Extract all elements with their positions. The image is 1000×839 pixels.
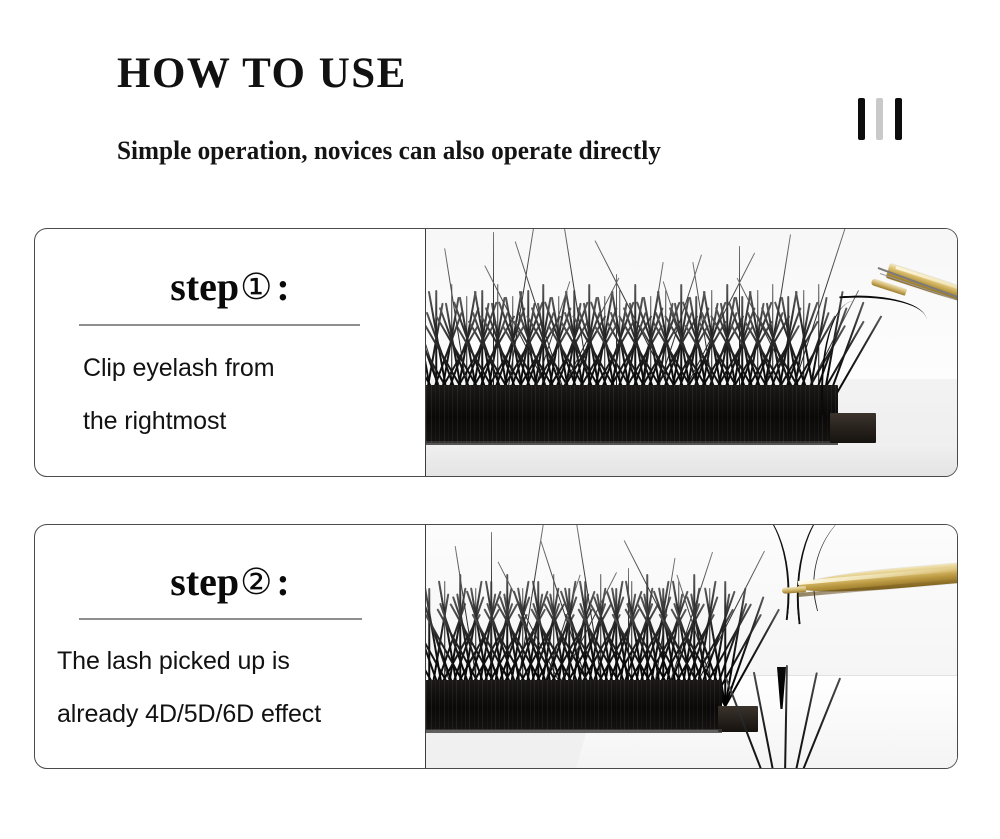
lash-base-striation (538, 680, 539, 730)
lash-base-striation (731, 385, 732, 443)
lash-base-striation (705, 385, 706, 443)
lash-base-striation (657, 385, 658, 443)
step-2-body-line-2: already 4D/5D/6D effect (57, 688, 421, 741)
lash-base-striation (659, 680, 660, 730)
lash-base-striation (542, 680, 543, 730)
lash-base-striation (470, 385, 471, 443)
lash-base-striation (783, 385, 784, 443)
lash-base-striation (469, 680, 470, 730)
lash-base-striation (757, 385, 758, 443)
lash-base-striation (466, 385, 467, 443)
lash-base-striation (517, 680, 518, 730)
lash-base-striation (570, 385, 571, 443)
lash-base-striation (613, 385, 614, 443)
lash-base-striation (505, 385, 506, 443)
lash-base-striation (577, 680, 578, 730)
lash-base-striation (573, 680, 574, 730)
lash-base-striation (487, 680, 488, 730)
step-2-number-icon: ② (239, 562, 273, 603)
lash-base-striation (727, 385, 728, 443)
lash-base-striation (666, 385, 667, 443)
lash-base-striation (566, 385, 567, 443)
lash-base-striation (500, 385, 501, 443)
lash-base-striation (439, 385, 440, 443)
lash-base-striation (560, 680, 561, 730)
lash-base-striation (800, 385, 801, 443)
lash-base-striation (628, 680, 629, 730)
lash-base-striation (474, 680, 475, 730)
lash-base-shadow (426, 729, 722, 733)
lash-base-striation (530, 680, 531, 730)
lash-base-striation (561, 385, 562, 443)
lash-base-striation (718, 385, 719, 443)
lash-base-striation (551, 680, 552, 730)
lash-base-striation (574, 385, 575, 443)
lash-base-striation (512, 680, 513, 730)
lash-base-striation (710, 680, 711, 730)
lash-base-striation (444, 680, 445, 730)
lash-base-striation (744, 385, 745, 443)
lash-base-striation (583, 385, 584, 443)
lash-base-striation (452, 385, 453, 443)
lash-base-striation (706, 680, 707, 730)
lash-base-striation (696, 385, 697, 443)
lash-base-striation (631, 385, 632, 443)
lash-base-striation (779, 385, 780, 443)
lash-base-striation (478, 680, 479, 730)
step-1-divider (79, 324, 360, 326)
lash-base-striation (495, 680, 496, 730)
lash-base-striation (761, 385, 762, 443)
lash-base-striation (444, 385, 445, 443)
lash-base-striation (496, 385, 497, 443)
lash-base-striation (482, 680, 483, 730)
step-1-body-line-1: Clip eyelash from (83, 342, 421, 395)
lash-base-striation (535, 385, 536, 443)
lash-base-striation (650, 680, 651, 730)
lash-base-striation (457, 385, 458, 443)
lash-base-striation (539, 385, 540, 443)
lash-base-striation (452, 680, 453, 730)
lash-base-striation (431, 680, 432, 730)
lash-base-striation (714, 680, 715, 730)
lash-base-striation (700, 385, 701, 443)
lash-base-striation (740, 385, 741, 443)
lash-base-striation (653, 385, 654, 443)
lash-base-striation (680, 680, 681, 730)
lash-base-striation (581, 680, 582, 730)
triple-bar-mark-icon (858, 98, 906, 140)
lash-base-striation (609, 385, 610, 443)
lash-base-striation (492, 385, 493, 443)
lash-base-striation (667, 680, 668, 730)
lash-base-striation (585, 680, 586, 730)
lash-base-striation (548, 385, 549, 443)
page-title: HOW TO USE (117, 52, 407, 95)
step-2-body-line-1: The lash picked up is (57, 635, 421, 688)
lash-base-striation (594, 680, 595, 730)
lash-base-tab (830, 413, 876, 443)
lash-base-striation (590, 680, 591, 730)
step-2-divider (79, 618, 362, 620)
lash-base-striation (483, 385, 484, 443)
step-2-text-pane: step②: The lash picked up is already 4D/… (35, 525, 425, 768)
step-card-1: step①: Clip eyelash from the rightmost (34, 228, 958, 477)
step-card-2: step②: The lash picked up is already 4D/… (34, 524, 958, 769)
lash-base-striation (547, 680, 548, 730)
lash-base-striation (607, 680, 608, 730)
lash-base-striation (693, 680, 694, 730)
lash-base-striation (564, 680, 565, 730)
lash-base-striation (814, 385, 815, 443)
lash-base-striation (735, 385, 736, 443)
tweezer-holding-fan-photo (426, 525, 957, 768)
lash-base-strip (426, 680, 722, 730)
lash-base-striation (640, 385, 641, 443)
lash-base-striation (522, 385, 523, 443)
lash-base-striation (809, 385, 810, 443)
lash-base-striation (697, 680, 698, 730)
lash-base-striation (461, 385, 462, 443)
lash-base-striation (702, 680, 703, 730)
lash-base-striation (766, 385, 767, 443)
lash-base-striation (616, 680, 617, 730)
lash-base-striation (671, 680, 672, 730)
lash-base-striation (487, 385, 488, 443)
lash-base-striation (491, 680, 492, 730)
lash-base-striation (646, 680, 647, 730)
step-1-photo (425, 229, 957, 476)
lash-base-striation (641, 680, 642, 730)
lash-base-striation (684, 680, 685, 730)
lash-base-striation (787, 385, 788, 443)
lash-base-striation (508, 680, 509, 730)
lash-base-striation (426, 680, 427, 730)
step-1-body: Clip eyelash from the rightmost (35, 342, 425, 448)
photo-table-surface (426, 444, 957, 476)
step-2-photo (425, 525, 957, 768)
lash-base-striation (748, 385, 749, 443)
lash-base-striation (504, 680, 505, 730)
lash-base-striation (526, 385, 527, 443)
lash-base-striation (431, 385, 432, 443)
lash-base-striation (644, 385, 645, 443)
lash-base-striation (534, 680, 535, 730)
lash-base-striation (635, 385, 636, 443)
step-1-heading: step①: (35, 267, 425, 307)
lash-base-striation (461, 680, 462, 730)
deco-bar-3 (895, 98, 902, 140)
lash-base-striation (687, 385, 688, 443)
lash-base-striation (605, 385, 606, 443)
lash-base-striation (611, 680, 612, 730)
lash-base-striation (618, 385, 619, 443)
lash-base-striation (648, 385, 649, 443)
lash-base-striation (426, 385, 427, 443)
lash-base-striation (587, 385, 588, 443)
step-2-body: The lash picked up is already 4D/5D/6D e… (35, 635, 425, 741)
lash-base-striation (689, 680, 690, 730)
lash-base-striation (654, 680, 655, 730)
step-1-heading-colon: : (273, 264, 289, 309)
lash-tray-with-tweezer-photo (426, 229, 957, 476)
lash-base-striation (620, 680, 621, 730)
lash-base-striation (513, 385, 514, 443)
step-1-number-icon: ① (239, 267, 273, 308)
lash-base-striation (624, 680, 625, 730)
step-2-heading-colon: : (273, 559, 289, 604)
lash-base-striation (663, 680, 664, 730)
page-header: HOW TO USE Simple operation, novices can… (0, 0, 1000, 200)
lash-base-striation (525, 680, 526, 730)
step-1-heading-prefix: step (170, 264, 239, 309)
lash-base-striation (509, 385, 510, 443)
lash-base-striation (676, 680, 677, 730)
lash-base-striation (568, 680, 569, 730)
deco-bar-1 (858, 98, 865, 140)
lash-base-striation (774, 385, 775, 443)
lash-base-striation (770, 385, 771, 443)
step-1-text-pane: step①: Clip eyelash from the rightmost (35, 229, 425, 476)
lash-base-striation (633, 680, 634, 730)
lash-base-striation (637, 680, 638, 730)
lash-base-striation (603, 680, 604, 730)
lash-base-striation (692, 385, 693, 443)
lash-base-striation (598, 680, 599, 730)
lash-base-striation (435, 385, 436, 443)
lash-base-striation (600, 385, 601, 443)
lash-base-striation (596, 385, 597, 443)
lash-base-striation (805, 385, 806, 443)
lash-base-striation (674, 385, 675, 443)
lash-base-striation (456, 680, 457, 730)
lash-base-striation (555, 680, 556, 730)
lash-base-striation (518, 385, 519, 443)
page-subtitle: Simple operation, novices can also opera… (117, 138, 661, 164)
lash-base-striation (670, 385, 671, 443)
lash-base-striation (465, 680, 466, 730)
lash-base-striation (683, 385, 684, 443)
step-2-heading-prefix: step (170, 559, 239, 604)
lash-base-striation (709, 385, 710, 443)
lash-base-striation (531, 385, 532, 443)
lash-base-striation (579, 385, 580, 443)
lash-base-striation (557, 385, 558, 443)
lash-base-striation (439, 680, 440, 730)
lash-base-striation (792, 385, 793, 443)
lash-base-striation (713, 385, 714, 443)
lash-base-striation (479, 385, 480, 443)
lash-base-striation (448, 385, 449, 443)
lash-base-striation (796, 385, 797, 443)
lash-base-striation (553, 385, 554, 443)
step-1-body-line-2: the rightmost (83, 395, 421, 448)
lash-base-striation (753, 385, 754, 443)
lash-base-striation (544, 385, 545, 443)
deco-bar-2 (876, 98, 883, 140)
lash-base-striation (521, 680, 522, 730)
lash-base-striation (435, 680, 436, 730)
lash-base-striation (474, 385, 475, 443)
lash-base-striation (592, 385, 593, 443)
lash-base-striation (818, 385, 819, 443)
lash-base-striation (448, 680, 449, 730)
lash-base-striation (661, 385, 662, 443)
lash-base-striation (679, 385, 680, 443)
lash-base-striation (626, 385, 627, 443)
step-2-heading: step②: (35, 562, 425, 602)
lash-base-striation (622, 385, 623, 443)
lash-base-striation (499, 680, 500, 730)
lash-base-striation (722, 385, 723, 443)
